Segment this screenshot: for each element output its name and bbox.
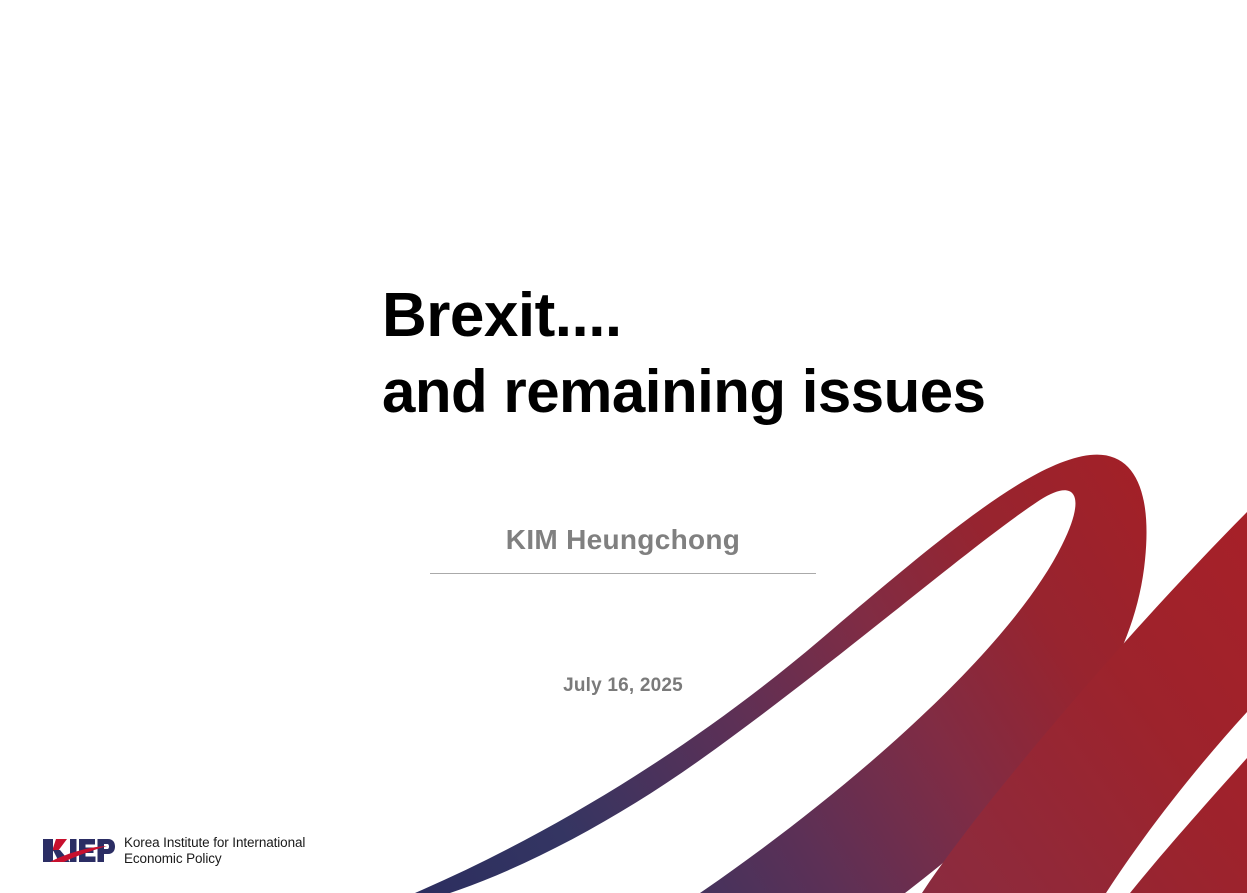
presenter-name: KIM Heungchong — [430, 524, 816, 556]
kiep-logo: Korea Institute for International Econom… — [41, 834, 305, 867]
kiep-logo-name-line2: Economic Policy — [124, 851, 305, 867]
swoosh-band-primary — [415, 455, 1147, 893]
title-line-2: and remaining issues — [382, 354, 1082, 430]
presenter-divider — [430, 573, 816, 574]
kiep-wordmark-icon — [41, 834, 115, 867]
kiep-logo-name: Korea Institute for International Econom… — [124, 835, 305, 866]
page-title: Brexit.... and remaining issues — [382, 278, 1082, 430]
presentation-date: July 16, 2025 — [430, 675, 816, 697]
decorative-swoosh-artwork — [0, 0, 1247, 893]
title-line-1: Brexit.... — [382, 278, 1082, 354]
kiep-logo-name-line1: Korea Institute for International — [124, 835, 305, 851]
date-block: July 16, 2025 — [430, 675, 816, 697]
swoosh-band-tertiary — [1130, 758, 1247, 893]
presenter-block: KIM Heungchong — [430, 524, 816, 574]
title-slide: Brexit.... and remaining issues KIM Heun… — [0, 0, 1247, 893]
swoosh-band-secondary — [922, 512, 1247, 893]
